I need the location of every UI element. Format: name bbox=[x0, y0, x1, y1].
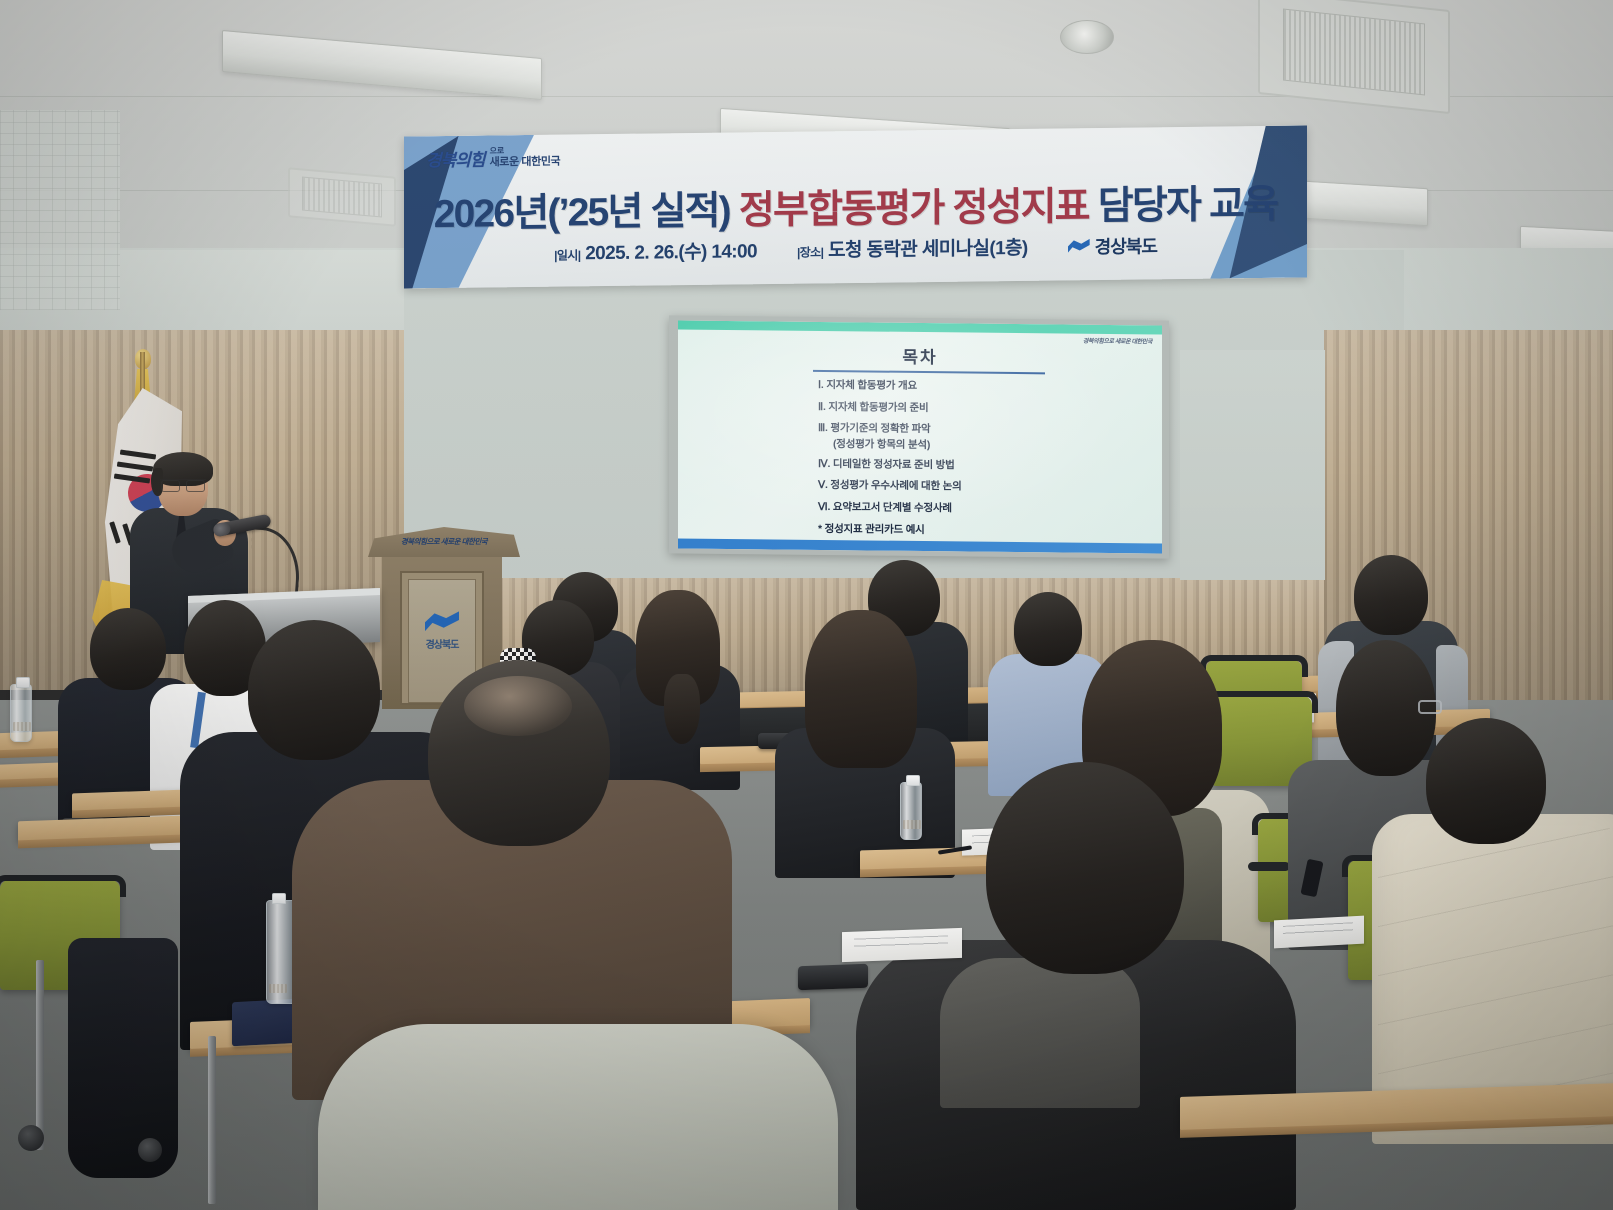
draped-coat bbox=[68, 938, 178, 1178]
bald-crown bbox=[464, 676, 572, 736]
banner-title: 2026년(’25년 실적) 정부합동평가 정성지표 담당자 교육 bbox=[404, 172, 1307, 239]
toc-item: Ⅳ. 디테일한 정성자료 준비 방법 bbox=[818, 458, 1136, 474]
banner-place-tag: |장소| bbox=[797, 245, 823, 259]
banner-title-part3: 담당자 교육 bbox=[1098, 183, 1277, 228]
toc-item-text: * 정성지표 관리카드 예시 bbox=[818, 523, 925, 536]
toc-item: * 정성지표 관리카드 예시 bbox=[818, 523, 1136, 539]
toc-item: Ⅰ. 지자체 합동평가 개요 bbox=[818, 379, 1136, 395]
toc-item-subtext: (정성평가 항목의 분석) bbox=[818, 438, 1136, 454]
toc-item-text: Ⅵ. 요약보고서 단계별 수정사례 bbox=[818, 501, 952, 514]
podium-top-cap: 경북의힘으로 새로운 대한민국 bbox=[368, 527, 520, 557]
chair-caster-icon bbox=[18, 1125, 44, 1151]
slide-toc-list: Ⅰ. 지자체 합동평가 개요 Ⅱ. 지자체 합동평가의 준비 Ⅲ. 평가기준의 … bbox=[818, 379, 1136, 548]
handout-paper bbox=[1274, 916, 1364, 949]
toc-item: Ⅱ. 지자체 합동평가의 준비 bbox=[818, 401, 1136, 417]
banner-logo-line1: 으로 bbox=[490, 147, 505, 156]
banner-brand-logo: 경북의힘 으로 새로운 대한민국 bbox=[426, 145, 560, 172]
toc-item: Ⅵ. 요약보고서 단계별 수정사례 bbox=[818, 501, 1136, 517]
event-banner: 경북의힘 으로 새로운 대한민국 2026년(’25년 실적) 정부합동평가 정… bbox=[404, 125, 1307, 288]
attendee-hair-long bbox=[805, 610, 917, 768]
eyeglasses-icon bbox=[1418, 700, 1442, 714]
toc-item: Ⅲ. 평가기준의 정확한 파악(정성평가 항목의 분석) bbox=[818, 422, 1136, 454]
seminar-room-photo: 경북의힘 으로 새로운 대한민국 2026년(’25년 실적) 정부합동평가 정… bbox=[0, 0, 1613, 1210]
attendee-person bbox=[856, 762, 1296, 1210]
chair-frame bbox=[0, 875, 126, 897]
attendee-head bbox=[1426, 718, 1546, 844]
banner-title-part2: 정부합동평가 정성지표 bbox=[739, 185, 1098, 232]
toc-item: Ⅴ. 정성평가 우수사례에 대한 논의 bbox=[818, 479, 1136, 495]
attendee-head bbox=[1354, 555, 1428, 635]
desk-leg bbox=[208, 1036, 216, 1204]
toc-item-text: Ⅲ. 평가기준의 정확한 파악 bbox=[818, 422, 931, 435]
left-wall-tile-panel bbox=[0, 110, 120, 310]
toc-item-text: Ⅰ. 지자체 합동평가 개요 bbox=[818, 379, 917, 392]
gyeongbuk-wave-icon bbox=[1068, 237, 1090, 254]
banner-date-value: 2025. 2. 26.(수) 14:00 bbox=[585, 241, 757, 264]
ceiling-air-vent bbox=[1258, 0, 1450, 114]
water-bottle bbox=[10, 684, 32, 742]
presentation-slide: 경북의힘으로 새로운 대한민국 목차 Ⅰ. 지자체 합동평가 개요 Ⅱ. 지자체… bbox=[678, 320, 1162, 553]
toc-item-text: Ⅳ. 디테일한 정성자료 준비 방법 bbox=[818, 458, 955, 471]
ceiling-downlight bbox=[1060, 20, 1114, 54]
attendee-person bbox=[318, 1024, 838, 1210]
attendee-person bbox=[1372, 718, 1613, 1138]
toc-item-text: Ⅱ. 지자체 합동평가의 준비 bbox=[818, 401, 928, 414]
attendee-light-jacket bbox=[318, 1024, 838, 1210]
podium-top-text: 경북의힘으로 새로운 대한민국 bbox=[368, 536, 520, 547]
banner-logo-mark: 경북의힘 bbox=[426, 146, 485, 172]
ceiling-air-vent bbox=[288, 167, 396, 226]
banner-logo-line2: 새로운 대한민국 bbox=[490, 155, 561, 168]
right-wall-grey-panel bbox=[1180, 350, 1325, 580]
banner-org-name: 경상북도 bbox=[1095, 232, 1157, 259]
smartphone bbox=[798, 964, 868, 990]
slide-top-bar bbox=[678, 320, 1162, 334]
toc-item-text: Ⅴ. 정성평가 우수사례에 대한 논의 bbox=[818, 479, 962, 493]
slide-title: 목차 bbox=[678, 340, 1162, 370]
banner-place-value: 도청 동락관 세미나실(1층) bbox=[828, 238, 1028, 261]
banner-date-tag: |일시| bbox=[554, 248, 580, 262]
ceiling-light-panel bbox=[222, 30, 542, 100]
projection-screen: 경북의힘으로 새로운 대한민국 목차 Ⅰ. 지자체 합동평가 개요 Ⅱ. 지자체… bbox=[669, 315, 1169, 558]
desk-leg bbox=[36, 960, 44, 1150]
attendee-sweater-shoulder bbox=[940, 958, 1140, 1108]
handout-paper bbox=[842, 928, 962, 962]
banner-org-logo: 경상북도 bbox=[1068, 232, 1157, 259]
slide-title-rule bbox=[813, 370, 1045, 374]
attendee-head bbox=[986, 762, 1184, 974]
puffer-quilt-lines bbox=[1378, 828, 1613, 1128]
banner-title-part1: 2026년(’25년 실적) bbox=[434, 189, 739, 236]
presenter-glasses bbox=[160, 479, 206, 489]
chair-caster-icon bbox=[138, 1138, 162, 1162]
attendee-person bbox=[292, 660, 732, 1080]
